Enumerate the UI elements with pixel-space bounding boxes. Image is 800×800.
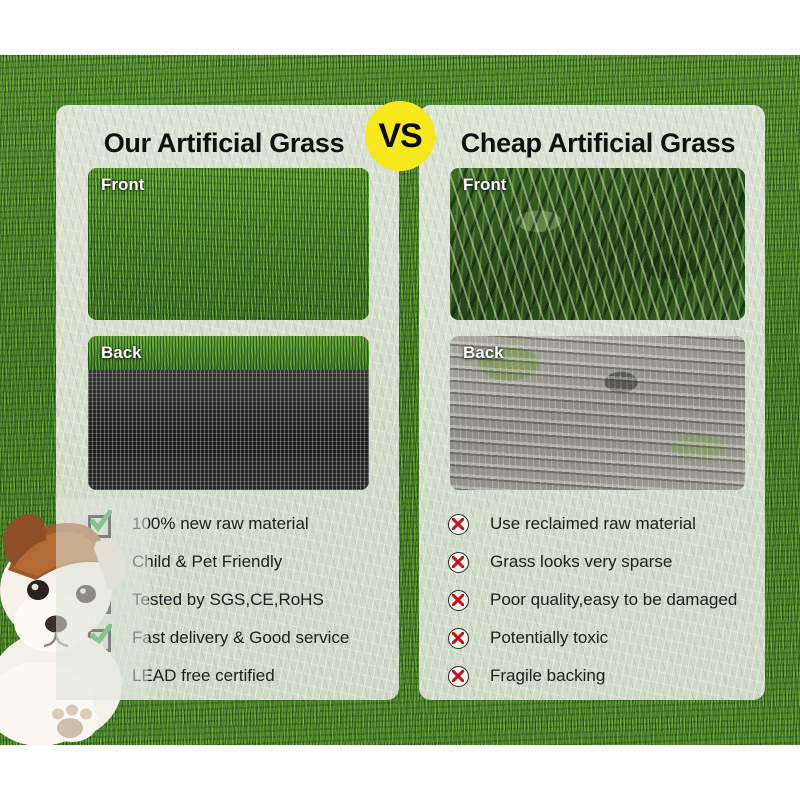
- photo-tag-front: Front: [463, 175, 506, 195]
- right-panel-title: Cheap Artificial Grass: [440, 119, 756, 167]
- cheap-grass-feature-list: Use reclaimed raw material Grass looks v…: [448, 505, 758, 695]
- cross-icon: [448, 589, 470, 611]
- list-item-label: Tested by SGS,CE,RoHS: [132, 590, 324, 610]
- list-item-label: Fast delivery & Good service: [132, 628, 349, 648]
- left-panel-title: Our Artificial Grass: [74, 119, 374, 167]
- list-item-label: Poor quality,easy to be damaged: [490, 590, 737, 610]
- photo-tag-back: Back: [463, 343, 504, 363]
- list-item-label: Potentially toxic: [490, 628, 608, 648]
- list-item: Use reclaimed raw material: [448, 505, 758, 543]
- dog-mascot: [0, 498, 148, 746]
- list-item: Grass looks very sparse: [448, 543, 758, 581]
- vs-badge: VS: [365, 101, 435, 171]
- photo-our-grass-back: Back: [88, 336, 369, 490]
- list-item-label: Grass looks very sparse: [490, 552, 672, 572]
- woven-mesh: [88, 370, 369, 490]
- panel-overlay-veil: [56, 498, 148, 700]
- list-item: Poor quality,easy to be damaged: [448, 581, 758, 619]
- photo-tag-front: Front: [101, 175, 144, 195]
- list-item-label: LEAD free certified: [132, 666, 275, 686]
- cross-icon: [448, 665, 470, 687]
- list-item-label: Child & Pet Friendly: [132, 552, 282, 572]
- list-item: Potentially toxic: [448, 619, 758, 657]
- cross-icon: [448, 513, 470, 535]
- comparison-infographic: Our Artificial Grass VS Cheap Artificial…: [0, 0, 800, 800]
- cross-icon: [448, 627, 470, 649]
- list-item-label: Fragile backing: [490, 666, 605, 686]
- cross-icon: [448, 551, 470, 573]
- photo-tag-back: Back: [101, 343, 142, 363]
- photo-cheap-grass-back: Back: [450, 336, 745, 490]
- photo-our-grass-front: Front: [88, 168, 369, 320]
- list-item-label: Use reclaimed raw material: [490, 514, 696, 534]
- list-item: Fragile backing: [448, 657, 758, 695]
- list-item-label: 100% new raw material: [132, 514, 309, 534]
- photo-cheap-grass-front: Front: [450, 168, 745, 320]
